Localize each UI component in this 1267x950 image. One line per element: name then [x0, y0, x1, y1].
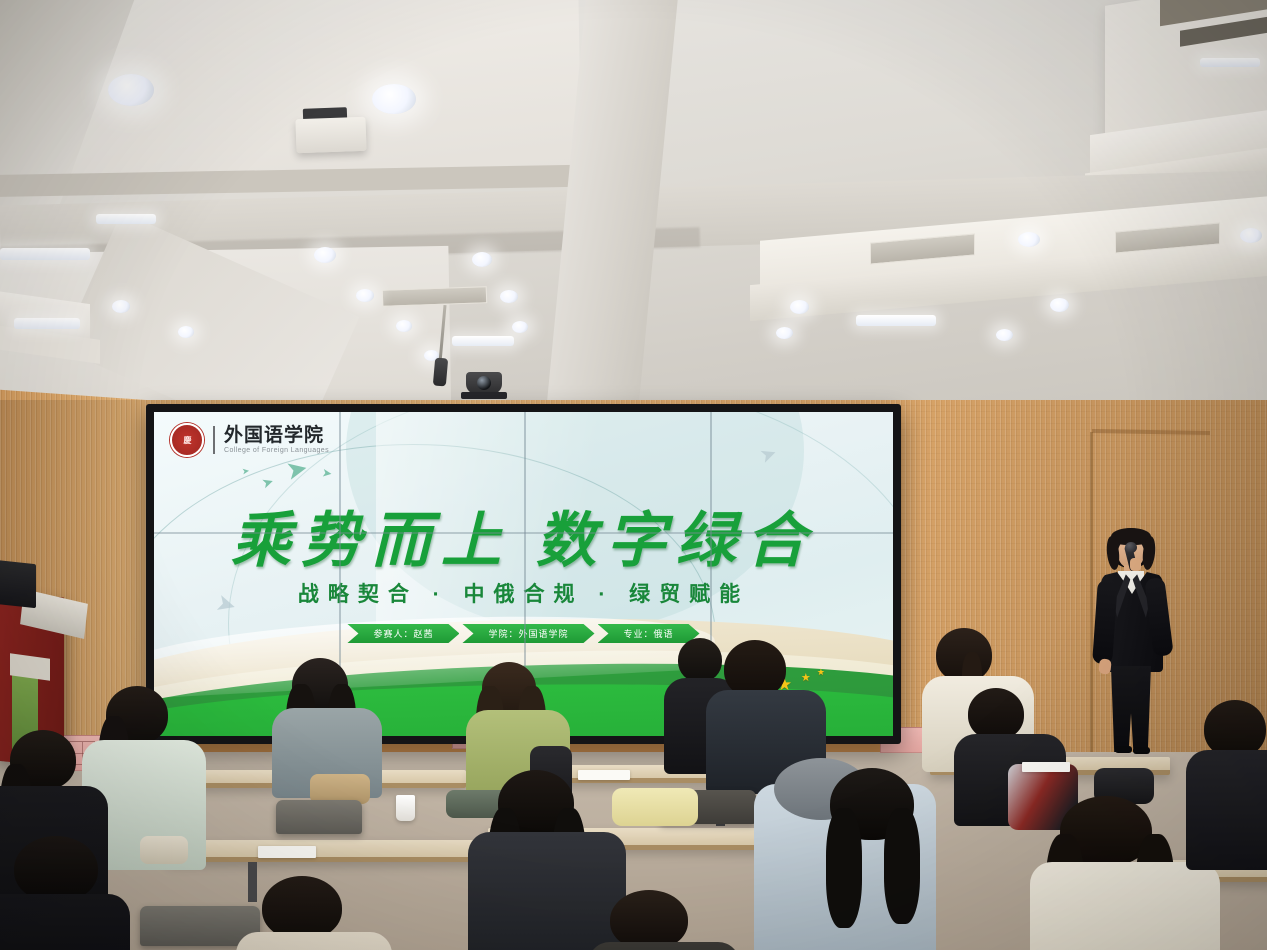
person-torso — [1030, 862, 1220, 950]
microphone-head-icon — [1125, 542, 1137, 553]
ceiling-downlight — [996, 329, 1013, 341]
person-head — [262, 876, 342, 940]
person-head — [14, 836, 98, 902]
ceiling-linear-light — [1200, 58, 1260, 67]
logo-divider — [213, 426, 215, 454]
ceiling-downlight — [1240, 228, 1262, 243]
ceiling-downlight — [178, 326, 194, 338]
camera-mount — [461, 392, 507, 399]
ceiling-downlight — [776, 327, 793, 339]
podium-monitor[interactable] — [0, 560, 36, 608]
paper-sheet — [578, 770, 630, 780]
lecture-hall-screenshot: ★ ★ ★ ★ ➤ ➤ ➤ ➤ ➤ ➤ 慶 外国语学院 College of F… — [0, 0, 1267, 950]
presenter — [1085, 528, 1177, 753]
person-torso — [236, 932, 392, 950]
person-torso — [468, 832, 626, 950]
coat-on-chair — [612, 788, 698, 826]
person-head — [968, 688, 1024, 740]
hanging-microphone-capsule — [433, 357, 448, 386]
ceiling-downlight — [512, 321, 528, 333]
ceiling-downlight — [396, 320, 412, 332]
college-logo: 慶 外国语学院 College of Foreign Languages — [170, 423, 329, 457]
presenter-shoe — [1133, 747, 1150, 754]
person-torso — [588, 942, 740, 950]
ceiling-downlight — [500, 290, 518, 303]
seal-glyph: 慶 — [184, 435, 191, 446]
camera-lens-icon — [477, 376, 491, 390]
crane-bird-icon: ➤ — [321, 465, 333, 480]
college-seal-icon: 慶 — [170, 423, 204, 457]
slide-tag-college: 学院：外国语学院 — [462, 624, 594, 643]
presenter-shoe — [1115, 746, 1132, 753]
ceiling-downlight — [356, 289, 374, 302]
presenter-trousers — [1111, 666, 1151, 752]
ceiling-linear-light — [856, 315, 936, 326]
ceiling-downlight — [790, 300, 809, 314]
presenter-hand — [1098, 658, 1112, 674]
college-name-en: College of Foreign Languages — [224, 447, 329, 454]
college-name-cn: 外国语学院 — [224, 426, 329, 446]
person-torso — [0, 894, 130, 950]
ceiling — [0, 0, 1267, 430]
hvac-grille — [382, 286, 488, 307]
ceiling-linear-light — [96, 214, 156, 224]
person-hair — [826, 808, 862, 928]
desk — [168, 840, 488, 862]
ceiling-downlight — [112, 300, 130, 313]
paper-sheet — [1022, 762, 1070, 772]
ceiling-downlight — [1018, 232, 1040, 247]
projector — [295, 117, 366, 153]
ceiling-downlight — [108, 74, 154, 106]
logo-text: 外国语学院 College of Foreign Languages — [224, 426, 329, 454]
ceiling-downlight — [1050, 298, 1069, 312]
person-head — [678, 638, 722, 682]
ceiling-linear-light — [0, 248, 90, 260]
presenter-hand — [1130, 558, 1141, 571]
bag — [140, 836, 188, 864]
person-head — [610, 890, 688, 950]
desk-leg — [248, 862, 257, 902]
chair[interactable] — [276, 800, 362, 834]
crane-bird-icon: ➤ — [241, 466, 250, 478]
person-hair — [884, 808, 920, 924]
ceiling-downlight — [472, 252, 492, 267]
slide-tag-major: 专业：俄语 — [598, 624, 700, 643]
ceiling-downlight — [314, 247, 336, 263]
videowall-seam — [154, 532, 893, 534]
ceiling-linear-light — [14, 318, 80, 329]
slide-tag-presenter: 参赛人：赵茜 — [347, 624, 459, 643]
ceiling-downlight — [372, 84, 416, 114]
ceiling-linear-light — [452, 336, 514, 346]
paper-cup — [396, 795, 415, 821]
person-torso — [1186, 750, 1267, 870]
paper-sheet — [258, 846, 316, 858]
